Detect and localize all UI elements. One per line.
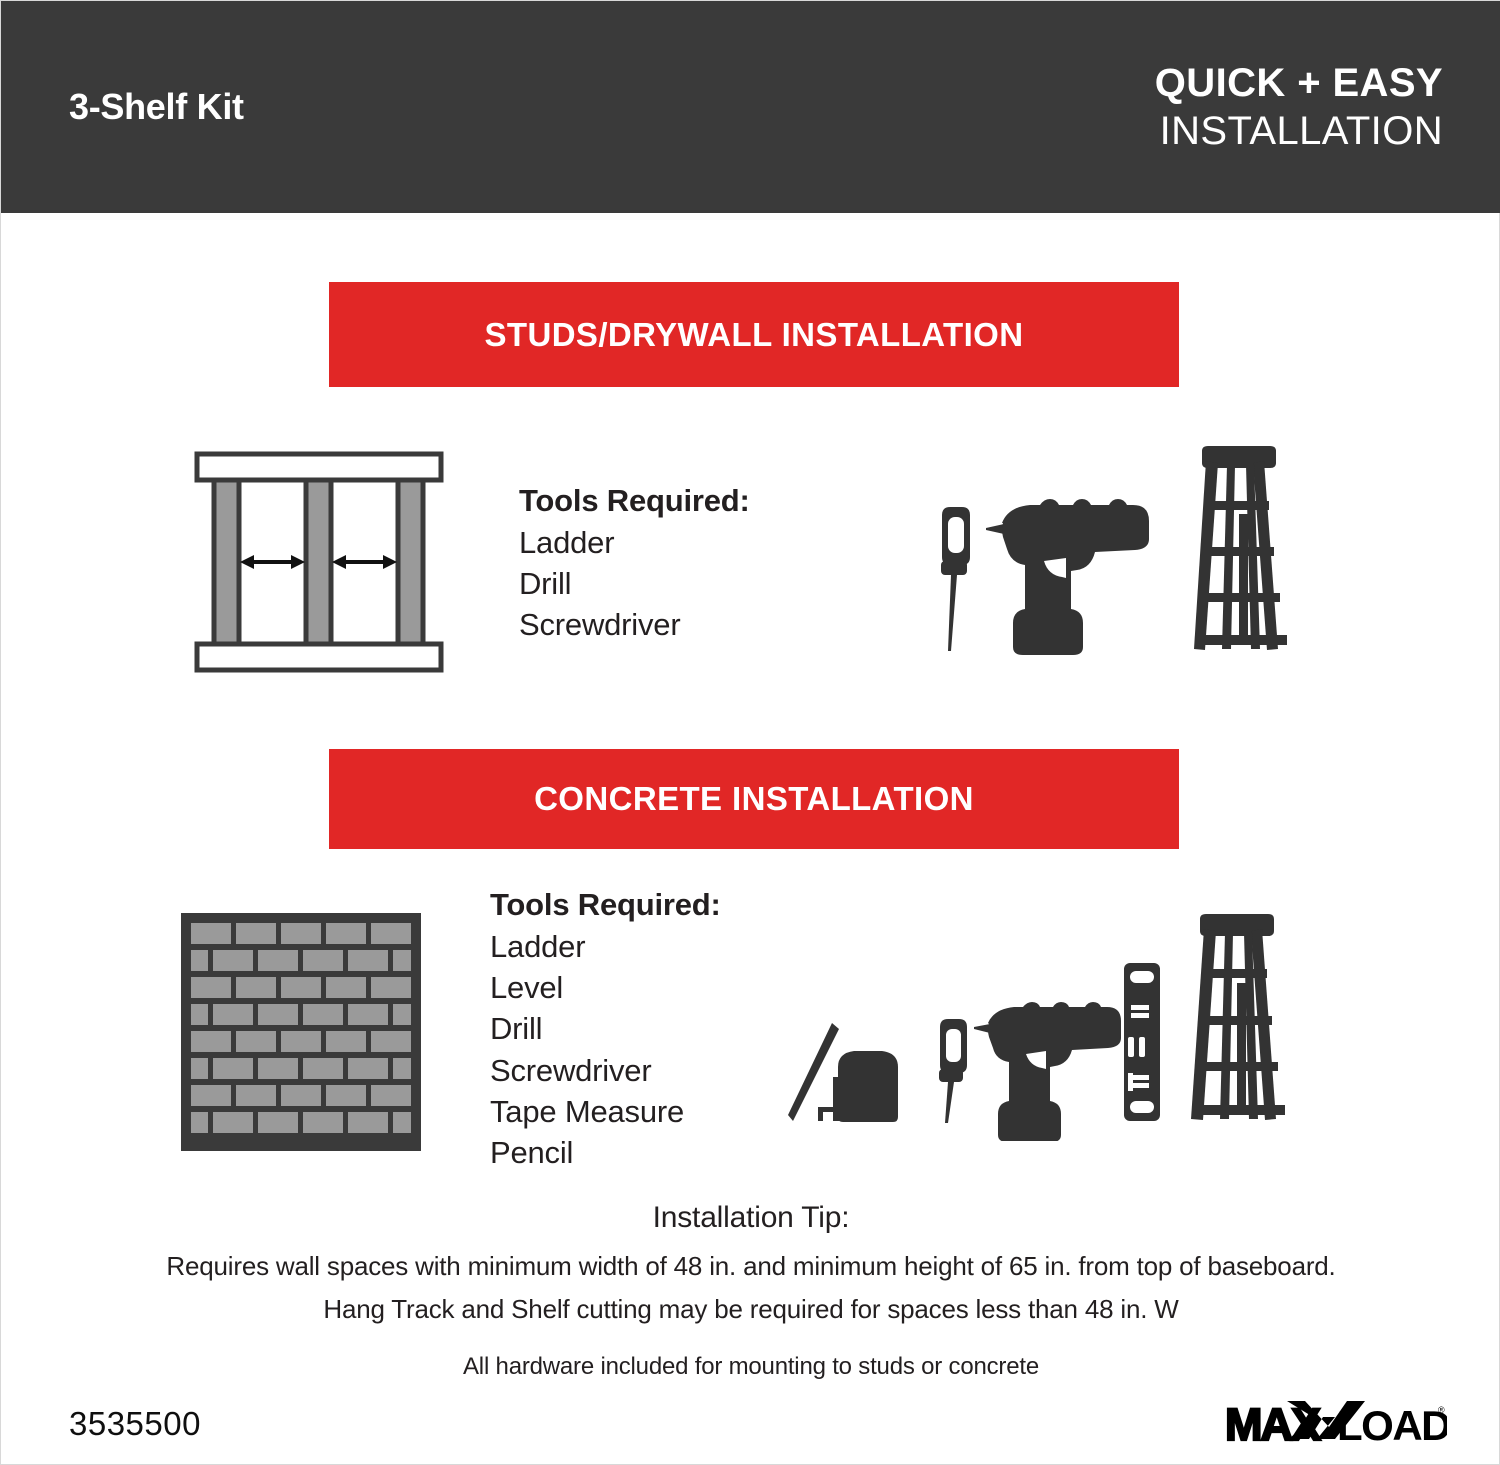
pencil-icon — [788, 1023, 839, 1121]
brick-wall-diagram — [181, 913, 421, 1151]
logo-registered-mark: ® — [1438, 1405, 1445, 1415]
screwdriver-icon — [939, 1019, 967, 1123]
ladder-icon — [1194, 446, 1287, 650]
installation-tip-line-2: Hang Track and Shelf cutting may be requ… — [1, 1294, 1500, 1325]
tagline-line-1: QUICK + EASY — [1155, 63, 1443, 103]
installation-guide-page: 3-Shelf Kit QUICK + EASY INSTALLATION ST… — [0, 0, 1500, 1465]
section-banner-label: STUDS/DRYWALL INSTALLATION — [485, 316, 1024, 354]
tool-item: Drill — [490, 1008, 721, 1049]
section-banner-concrete: CONCRETE INSTALLATION — [329, 749, 1179, 849]
installation-tip-block: Installation Tip: Requires wall spaces w… — [1, 1201, 1500, 1325]
tool-item: Ladder — [490, 926, 721, 967]
maxload-logo: MAX LOAD ® — [1225, 1397, 1447, 1449]
drill-icon — [986, 499, 1149, 655]
logo-load-text: LOAD — [1337, 1402, 1447, 1449]
tool-item: Level — [490, 967, 721, 1008]
section-banner-label: CONCRETE INSTALLATION — [534, 780, 974, 818]
hardware-included-note: All hardware included for mounting to st… — [1, 1353, 1500, 1381]
tool-item: Drill — [519, 563, 750, 604]
model-number: 3535500 — [69, 1405, 201, 1443]
tool-icons-studs-drywall — [906, 439, 1296, 659]
tool-item: Screwdriver — [490, 1050, 721, 1091]
tool-icons-concrete — [776, 901, 1301, 1141]
installation-tip-heading: Installation Tip: — [1, 1201, 1500, 1235]
tools-required-studs-drywall: Tools Required: Ladder Drill Screwdriver — [519, 481, 750, 646]
tool-item: Screwdriver — [519, 604, 750, 645]
tools-required-heading: Tools Required: — [519, 481, 750, 522]
page-title: 3-Shelf Kit — [69, 86, 244, 128]
section-banner-studs-drywall: STUDS/DRYWALL INSTALLATION — [329, 282, 1179, 387]
screwdriver-icon — [941, 507, 970, 651]
ladder-icon — [1191, 914, 1285, 1120]
header-tagline: QUICK + EASY INSTALLATION — [1155, 63, 1443, 151]
level-icon — [1124, 963, 1160, 1121]
installation-tip-line-1: Requires wall spaces with minimum width … — [1, 1251, 1500, 1282]
tape-measure-icon — [818, 1051, 898, 1122]
tool-item: Pencil — [490, 1132, 721, 1173]
tool-item: Ladder — [519, 522, 750, 563]
tools-required-concrete: Tools Required: Ladder Level Drill Screw… — [490, 885, 721, 1173]
drill-icon — [974, 1002, 1121, 1141]
tagline-line-2: INSTALLATION — [1155, 111, 1443, 151]
stud-wall-diagram — [194, 451, 444, 673]
tool-item: Tape Measure — [490, 1091, 721, 1132]
tools-required-heading: Tools Required: — [490, 885, 721, 926]
page-header: 3-Shelf Kit QUICK + EASY INSTALLATION — [1, 1, 1500, 213]
